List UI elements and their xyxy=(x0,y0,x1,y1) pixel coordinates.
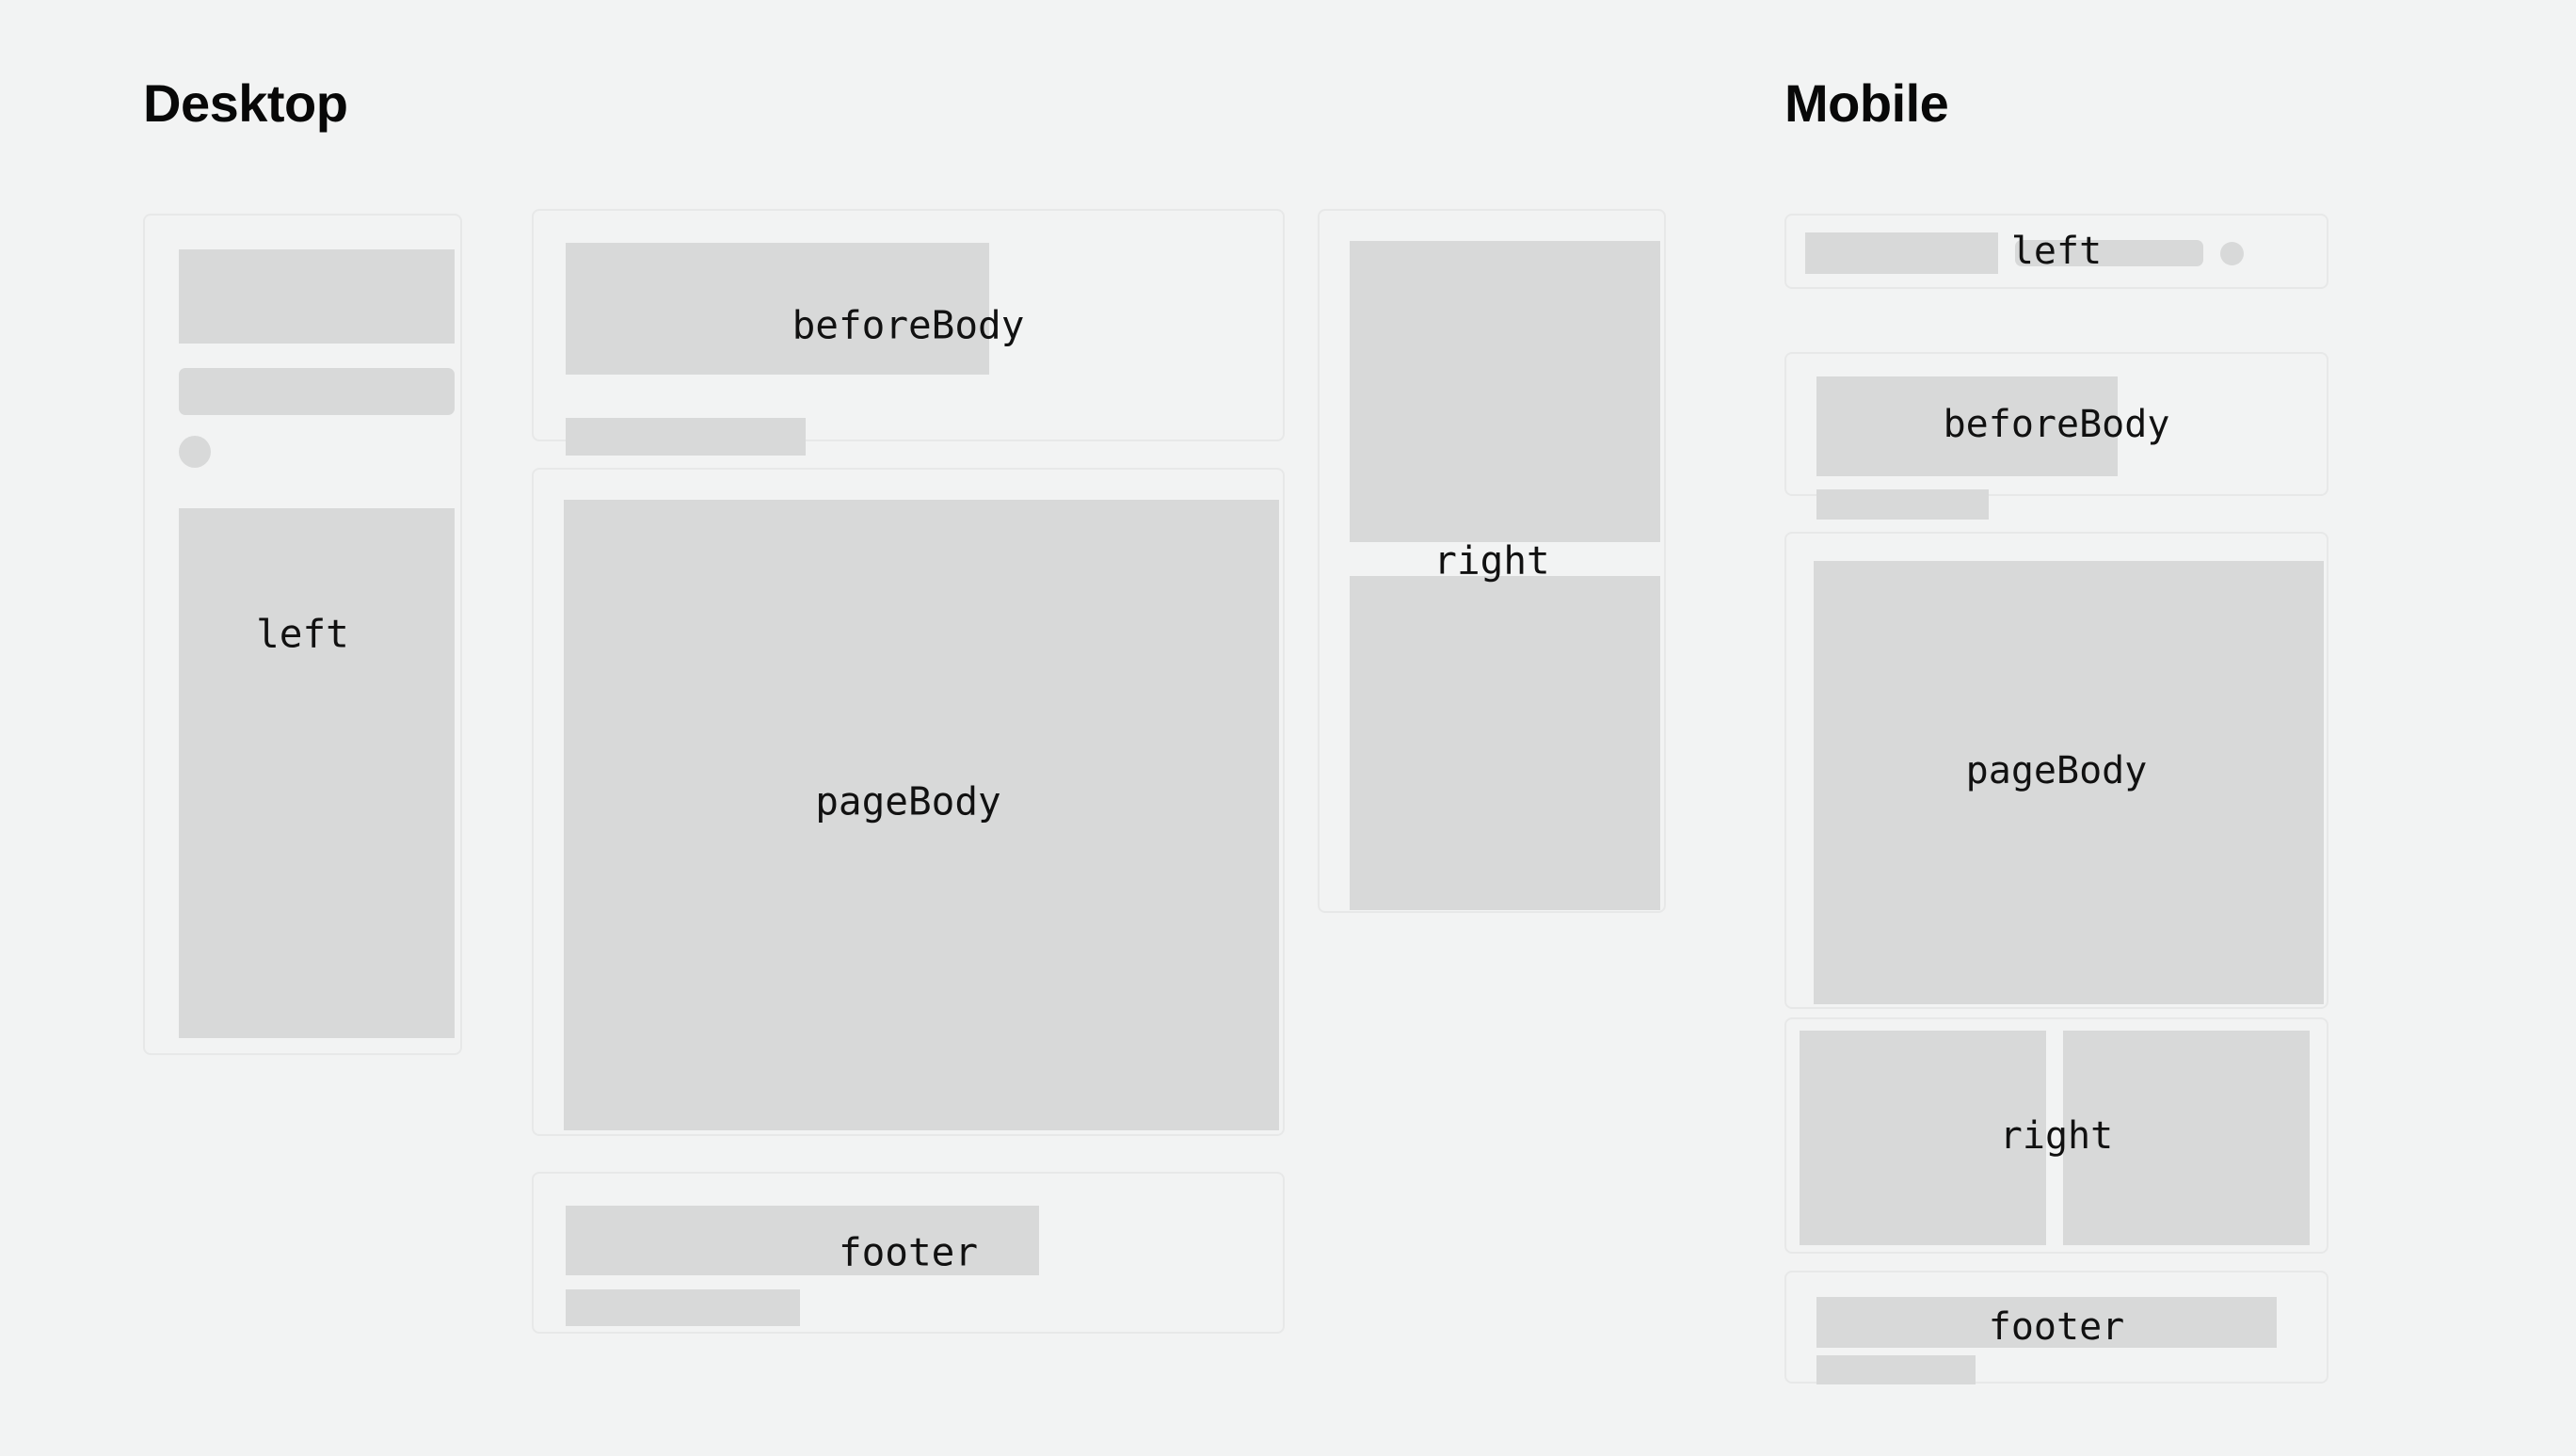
skeleton-block-right-column xyxy=(2063,1031,2310,1245)
desktop-left-slot-card[interactable]: left xyxy=(143,214,462,1055)
skeleton-avatar-circle xyxy=(2220,242,2244,265)
skeleton-bar-wide xyxy=(1816,1297,2277,1348)
skeleton-bar-short xyxy=(1816,1355,1976,1384)
mobile-beforebody-slot-card[interactable]: beforeBody xyxy=(1784,352,2328,496)
mobile-left-slot-card[interactable]: left xyxy=(1784,214,2328,289)
skeleton-avatar-circle xyxy=(179,436,211,468)
skeleton-block-image xyxy=(1816,376,2118,476)
mobile-pagebody-slot-card[interactable]: pageBody xyxy=(1784,532,2328,1009)
skeleton-block-image xyxy=(566,243,989,375)
skeleton-block-left-column xyxy=(1800,1031,2046,1245)
mobile-left-row xyxy=(1805,232,2244,274)
skeleton-block-image xyxy=(179,249,455,344)
mobile-section-title: Mobile xyxy=(1784,77,1948,130)
skeleton-block-body xyxy=(564,500,1279,1130)
mobile-right-slot-card[interactable]: right xyxy=(1784,1017,2328,1254)
skeleton-block-tall xyxy=(179,508,455,1038)
skeleton-bar-short xyxy=(1816,489,1989,520)
skeleton-bar-rounded xyxy=(179,368,455,415)
skeleton-block-upper xyxy=(1350,241,1660,542)
skeleton-block-image xyxy=(1805,232,1998,274)
desktop-footer-slot-card[interactable]: footer xyxy=(532,1172,1285,1334)
desktop-right-slot-label: right xyxy=(1320,542,1664,581)
skeleton-bar-wide xyxy=(566,1206,1039,1275)
skeleton-block-lower xyxy=(1350,576,1660,910)
desktop-right-slot-card[interactable]: right xyxy=(1318,209,1666,913)
desktop-pagebody-slot-card[interactable]: pageBody xyxy=(532,468,1285,1136)
mobile-footer-slot-card[interactable]: footer xyxy=(1784,1271,2328,1384)
layout-preview-stage: Desktop left beforeBody pageBody right f… xyxy=(0,0,2576,1456)
mobile-right-grid xyxy=(1800,1031,2310,1245)
desktop-beforebody-slot-card[interactable]: beforeBody xyxy=(532,209,1285,441)
skeleton-block-body xyxy=(1814,561,2324,1004)
skeleton-bar-short xyxy=(566,1289,800,1326)
skeleton-bar-rounded xyxy=(2015,240,2203,266)
desktop-section-title: Desktop xyxy=(143,77,347,130)
skeleton-bar-short xyxy=(566,418,806,456)
